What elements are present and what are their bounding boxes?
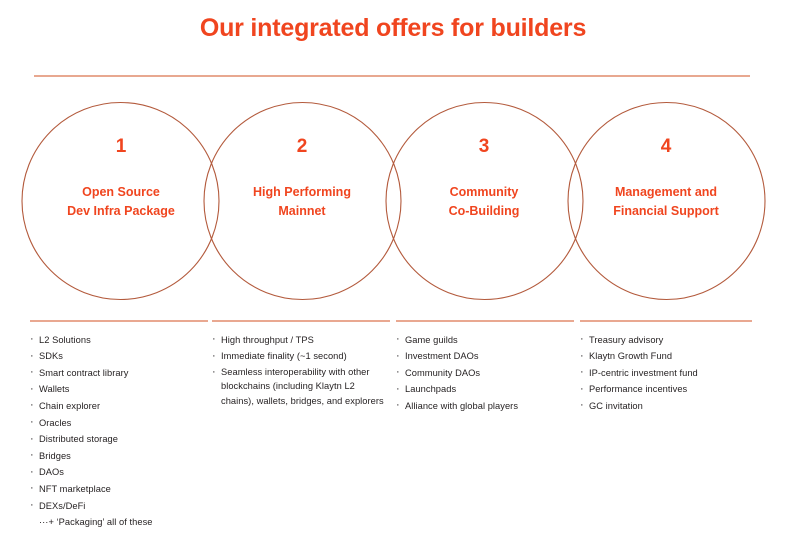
slide-root: Our integrated offers for builders 1 Ope… — [0, 0, 786, 542]
list-item: Chain explorer — [30, 398, 208, 415]
list-item: IP-centric investment fund — [580, 365, 752, 382]
list-item: Seamless interoperability with other blo… — [212, 365, 390, 409]
list-item: Bridges — [30, 448, 208, 465]
list-item: Launchpads — [396, 381, 574, 398]
list-item: DAOs — [30, 464, 208, 481]
column-4-list: Treasury advisoryKlaytn Growth FundIP-ce… — [580, 332, 752, 415]
list-item: Performance incentives — [580, 381, 752, 398]
circle-1-number: 1 — [21, 136, 221, 158]
column-2: High throughput / TPSImmediate finality … — [212, 320, 390, 411]
circle-1-title-line2: Dev Infra Package — [21, 202, 221, 221]
list-item: Distributed storage — [30, 431, 208, 448]
list-item: NFT marketplace — [30, 481, 208, 498]
list-item: Treasury advisory — [580, 332, 752, 349]
list-item: Klaytn Growth Fund — [580, 348, 752, 365]
list-item: SDKs — [30, 348, 208, 365]
column-2-divider — [212, 320, 390, 322]
circle-2-title-line2: Mainnet — [202, 202, 402, 221]
list-item: L2 Solutions — [30, 332, 208, 349]
column-1: L2 SolutionsSDKsSmart contract libraryWa… — [30, 320, 208, 531]
list-item: Game guilds — [396, 332, 574, 349]
circle-1-title-line1: Open Source — [21, 183, 221, 202]
column-1-list: L2 SolutionsSDKsSmart contract libraryWa… — [30, 332, 208, 531]
list-item: Alliance with global players — [396, 398, 574, 415]
list-item: ···+ ‘Packaging’ all of these — [30, 514, 208, 531]
column-3: Game guildsInvestment DAOsCommunity DAOs… — [396, 320, 574, 415]
page-title: Our integrated offers for builders — [0, 14, 786, 43]
list-item: Wallets — [30, 381, 208, 398]
circle-diagram: 1 Open Source Dev Infra Package 2 High P… — [0, 95, 786, 310]
list-item: Smart contract library — [30, 365, 208, 382]
circle-4-title-line2: Financial Support — [566, 202, 766, 221]
circle-2-number: 2 — [202, 136, 402, 158]
column-3-divider — [396, 320, 574, 322]
list-item: Immediate finality (~1 second) — [212, 348, 390, 365]
circle-2-title: High Performing Mainnet — [202, 183, 402, 221]
circle-4-number: 4 — [566, 136, 766, 158]
bullet-columns: L2 SolutionsSDKsSmart contract libraryWa… — [0, 320, 786, 542]
circle-3-title-line2: Co-Building — [384, 202, 584, 221]
list-item: DEXs/DeFi — [30, 498, 208, 515]
circle-3-number: 3 — [384, 136, 584, 158]
list-item: High throughput / TPS — [212, 332, 390, 349]
column-4-divider — [580, 320, 752, 322]
list-item: GC invitation — [580, 398, 752, 415]
column-3-list: Game guildsInvestment DAOsCommunity DAOs… — [396, 332, 574, 415]
circle-3-title: Community Co-Building — [384, 183, 584, 221]
top-divider — [34, 75, 750, 77]
column-1-divider — [30, 320, 208, 322]
circle-4-title-line1: Management and — [566, 183, 766, 202]
list-item: Community DAOs — [396, 365, 574, 382]
circle-3-title-line1: Community — [384, 183, 584, 202]
list-item: Investment DAOs — [396, 348, 574, 365]
column-2-list: High throughput / TPSImmediate finality … — [212, 332, 390, 409]
circle-1-title: Open Source Dev Infra Package — [21, 183, 221, 221]
circle-4-title: Management and Financial Support — [566, 183, 766, 221]
circle-2-title-line1: High Performing — [202, 183, 402, 202]
column-4: Treasury advisoryKlaytn Growth FundIP-ce… — [580, 320, 752, 415]
list-item: Oracles — [30, 415, 208, 432]
